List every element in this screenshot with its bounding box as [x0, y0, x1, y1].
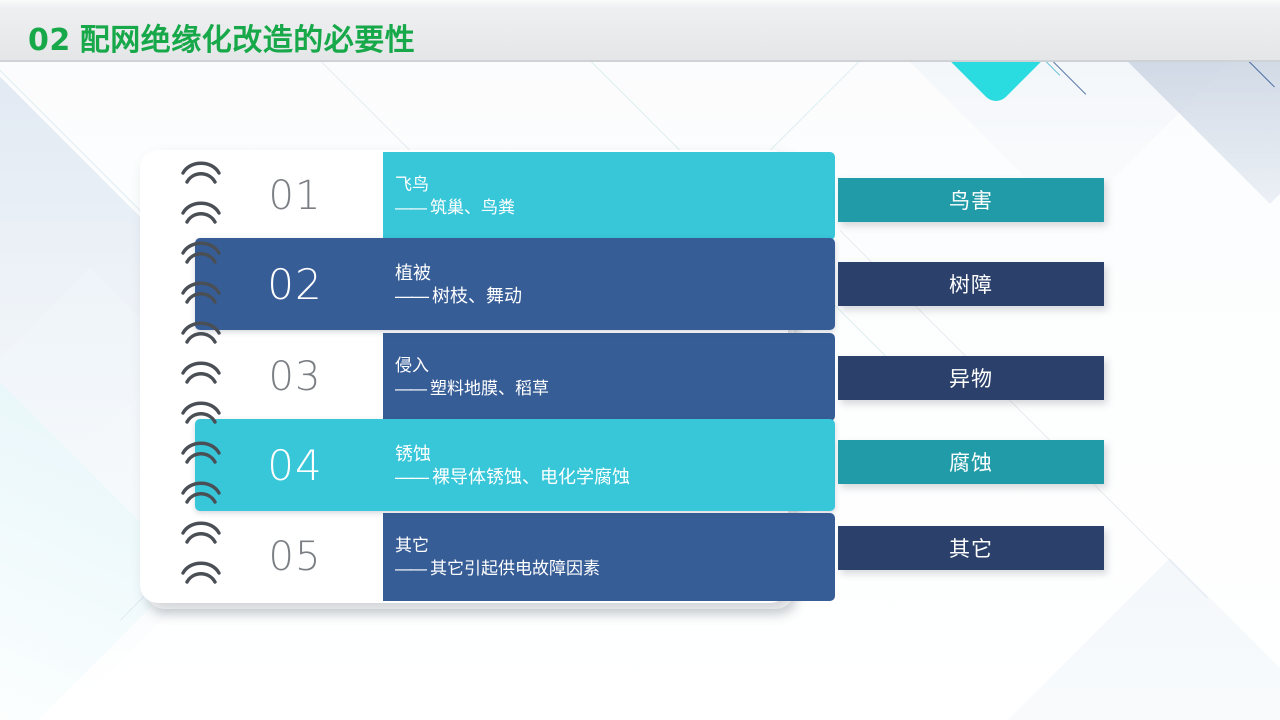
page-title: 02配网绝缘化改造的必要性	[28, 15, 415, 59]
row-dash: ——	[395, 467, 427, 487]
category-label-other[interactable]: 其它	[838, 526, 1104, 570]
category-label-text: 腐蚀	[949, 447, 993, 477]
list-item-04[interactable]: 04 锈蚀 ——裸导体锈蚀、电化学腐蚀	[140, 421, 840, 509]
row-number: 02	[240, 240, 350, 328]
row-number: 04	[240, 421, 350, 509]
row-title: 侵入	[395, 355, 549, 377]
category-label-foreign-object[interactable]: 异物	[838, 356, 1104, 400]
row-text-block: 侵入 ——塑料地膜、稻草	[395, 333, 549, 421]
row-subtitle-text: 塑料地膜、稻草	[430, 379, 549, 398]
list-item-03[interactable]: 03 侵入 ——塑料地膜、稻草	[140, 333, 840, 421]
category-label-text: 树障	[949, 269, 993, 299]
page-title-text: 配网绝缘化改造的必要性	[80, 24, 416, 57]
row-subtitle: ——树枝、舞动	[395, 285, 522, 307]
row-title: 飞鸟	[395, 174, 515, 196]
row-number: 03	[240, 333, 350, 421]
row-text-block: 植被 ——树枝、舞动	[395, 240, 522, 328]
category-label-tree[interactable]: 树障	[838, 262, 1104, 306]
row-number: 05	[240, 513, 350, 601]
category-label-text: 异物	[949, 363, 993, 393]
row-subtitle-text: 树枝、舞动	[432, 286, 522, 306]
row-dash: ——	[395, 379, 425, 398]
row-text-block: 其它 ——其它引起供电故障因素	[395, 513, 600, 601]
row-subtitle: ——筑巢、鸟粪	[395, 197, 515, 219]
category-label-corrosion[interactable]: 腐蚀	[838, 440, 1104, 484]
list-item-02[interactable]: 02 植被 ——树枝、舞动	[140, 240, 840, 328]
slide-canvas: 02配网绝缘化改造的必要性 01 飞鸟 ——筑巢、鸟粪 02 植被 ——树枝、舞…	[0, 0, 1280, 720]
row-text-block: 锈蚀 ——裸导体锈蚀、电化学腐蚀	[395, 421, 630, 509]
row-dash: ——	[395, 286, 427, 306]
category-label-bird[interactable]: 鸟害	[838, 178, 1104, 222]
list-item-05[interactable]: 05 其它 ——其它引起供电故障因素	[140, 513, 840, 601]
section-number: 02	[28, 23, 71, 58]
row-subtitle: ——塑料地膜、稻草	[395, 378, 549, 400]
header-highlight	[0, 0, 1280, 8]
row-subtitle: ——其它引起供电故障因素	[395, 558, 600, 580]
category-label-list: 鸟害 树障 异物 腐蚀 其它	[838, 150, 1113, 605]
row-dash: ——	[395, 198, 425, 217]
row-number: 01	[240, 152, 350, 240]
row-subtitle-text: 筑巢、鸟粪	[430, 198, 515, 217]
row-dash: ——	[395, 559, 425, 578]
row-subtitle: ——裸导体锈蚀、电化学腐蚀	[395, 466, 630, 488]
row-title: 植被	[395, 262, 522, 284]
category-label-text: 其它	[949, 533, 993, 563]
row-subtitle-text: 裸导体锈蚀、电化学腐蚀	[432, 467, 630, 487]
category-label-text: 鸟害	[949, 185, 993, 215]
risk-factor-list: 01 飞鸟 ——筑巢、鸟粪 02 植被 ——树枝、舞动 03 侵入 ——塑料地膜…	[140, 150, 840, 605]
row-subtitle-text: 其它引起供电故障因素	[430, 559, 600, 578]
row-title: 其它	[395, 535, 600, 557]
row-title: 锈蚀	[395, 443, 630, 465]
list-item-01[interactable]: 01 飞鸟 ——筑巢、鸟粪	[140, 152, 840, 240]
row-text-block: 飞鸟 ——筑巢、鸟粪	[395, 152, 515, 240]
